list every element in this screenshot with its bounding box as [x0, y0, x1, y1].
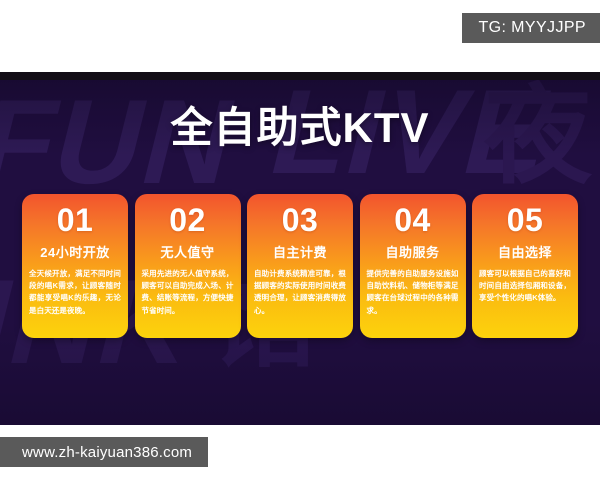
card-body-text: 采用先进的无人值守系统，顾客可以自助完成入场、计费、结账等流程，方便快捷节省时间… [142, 268, 234, 317]
dark-divider-band [0, 72, 600, 80]
card-body-text: 全天候开放，满足不同时间段的唱K需求，让顾客随时都能享受唱K的乐趣，无论是白天还… [29, 268, 121, 317]
feature-card: 05 自由选择 顾客可以根据自己的喜好和时间自由选择包厢和设备，享受个性化的唱K… [472, 194, 578, 338]
poster-body: FUN LIVE INK 夜 馆 全自助式KTV 01 24小时开放 全天候开放… [0, 80, 600, 425]
card-number: 02 [169, 204, 206, 238]
card-number: 03 [282, 204, 319, 238]
card-number: 04 [394, 204, 431, 238]
feature-cards-row: 01 24小时开放 全天候开放，满足不同时间段的唱K需求，让顾客随时都能享受唱K… [22, 194, 578, 338]
page-title: 全自助式KTV [0, 106, 600, 150]
telegram-handle-badge: TG: MYYJJPP [462, 13, 600, 43]
card-number: 01 [57, 204, 94, 238]
feature-card: 01 24小时开放 全天候开放，满足不同时间段的唱K需求，让顾客随时都能享受唱K… [22, 194, 128, 338]
card-number: 05 [507, 204, 544, 238]
card-body-text: 自助计费系统精准可靠，根据顾客的实际使用时间收费透明合理，让顾客消费得放心。 [254, 268, 346, 317]
card-title: 无人值守 [160, 245, 214, 261]
feature-card: 02 无人值守 采用先进的无人值守系统，顾客可以自助完成入场、计费、结账等流程，… [135, 194, 241, 338]
top-white-strip: TG: MYYJJPP [0, 0, 600, 72]
footer-white-strip: www.zh-kaiyuan386.com [0, 425, 600, 480]
poster-screenshot: TG: MYYJJPP FUN LIVE INK 夜 馆 全自助式KTV 01 … [0, 0, 600, 480]
card-title: 自由选择 [498, 245, 552, 261]
card-body-text: 提供完善的自助服务设施如自助饮料机、储物柜等满足顾客在台球过程中的各种需求。 [367, 268, 459, 317]
feature-card: 03 自主计费 自助计费系统精准可靠，根据顾客的实际使用时间收费透明合理，让顾客… [247, 194, 353, 338]
card-title: 自主计费 [273, 245, 327, 261]
website-url-badge: www.zh-kaiyuan386.com [0, 437, 208, 467]
feature-card: 04 自助服务 提供完善的自助服务设施如自助饮料机、储物柜等满足顾客在台球过程中… [360, 194, 466, 338]
card-title: 自助服务 [385, 245, 439, 261]
card-body-text: 顾客可以根据自己的喜好和时间自由选择包厢和设备，享受个性化的唱K体验。 [479, 268, 571, 304]
card-title: 24小时开放 [40, 245, 109, 261]
